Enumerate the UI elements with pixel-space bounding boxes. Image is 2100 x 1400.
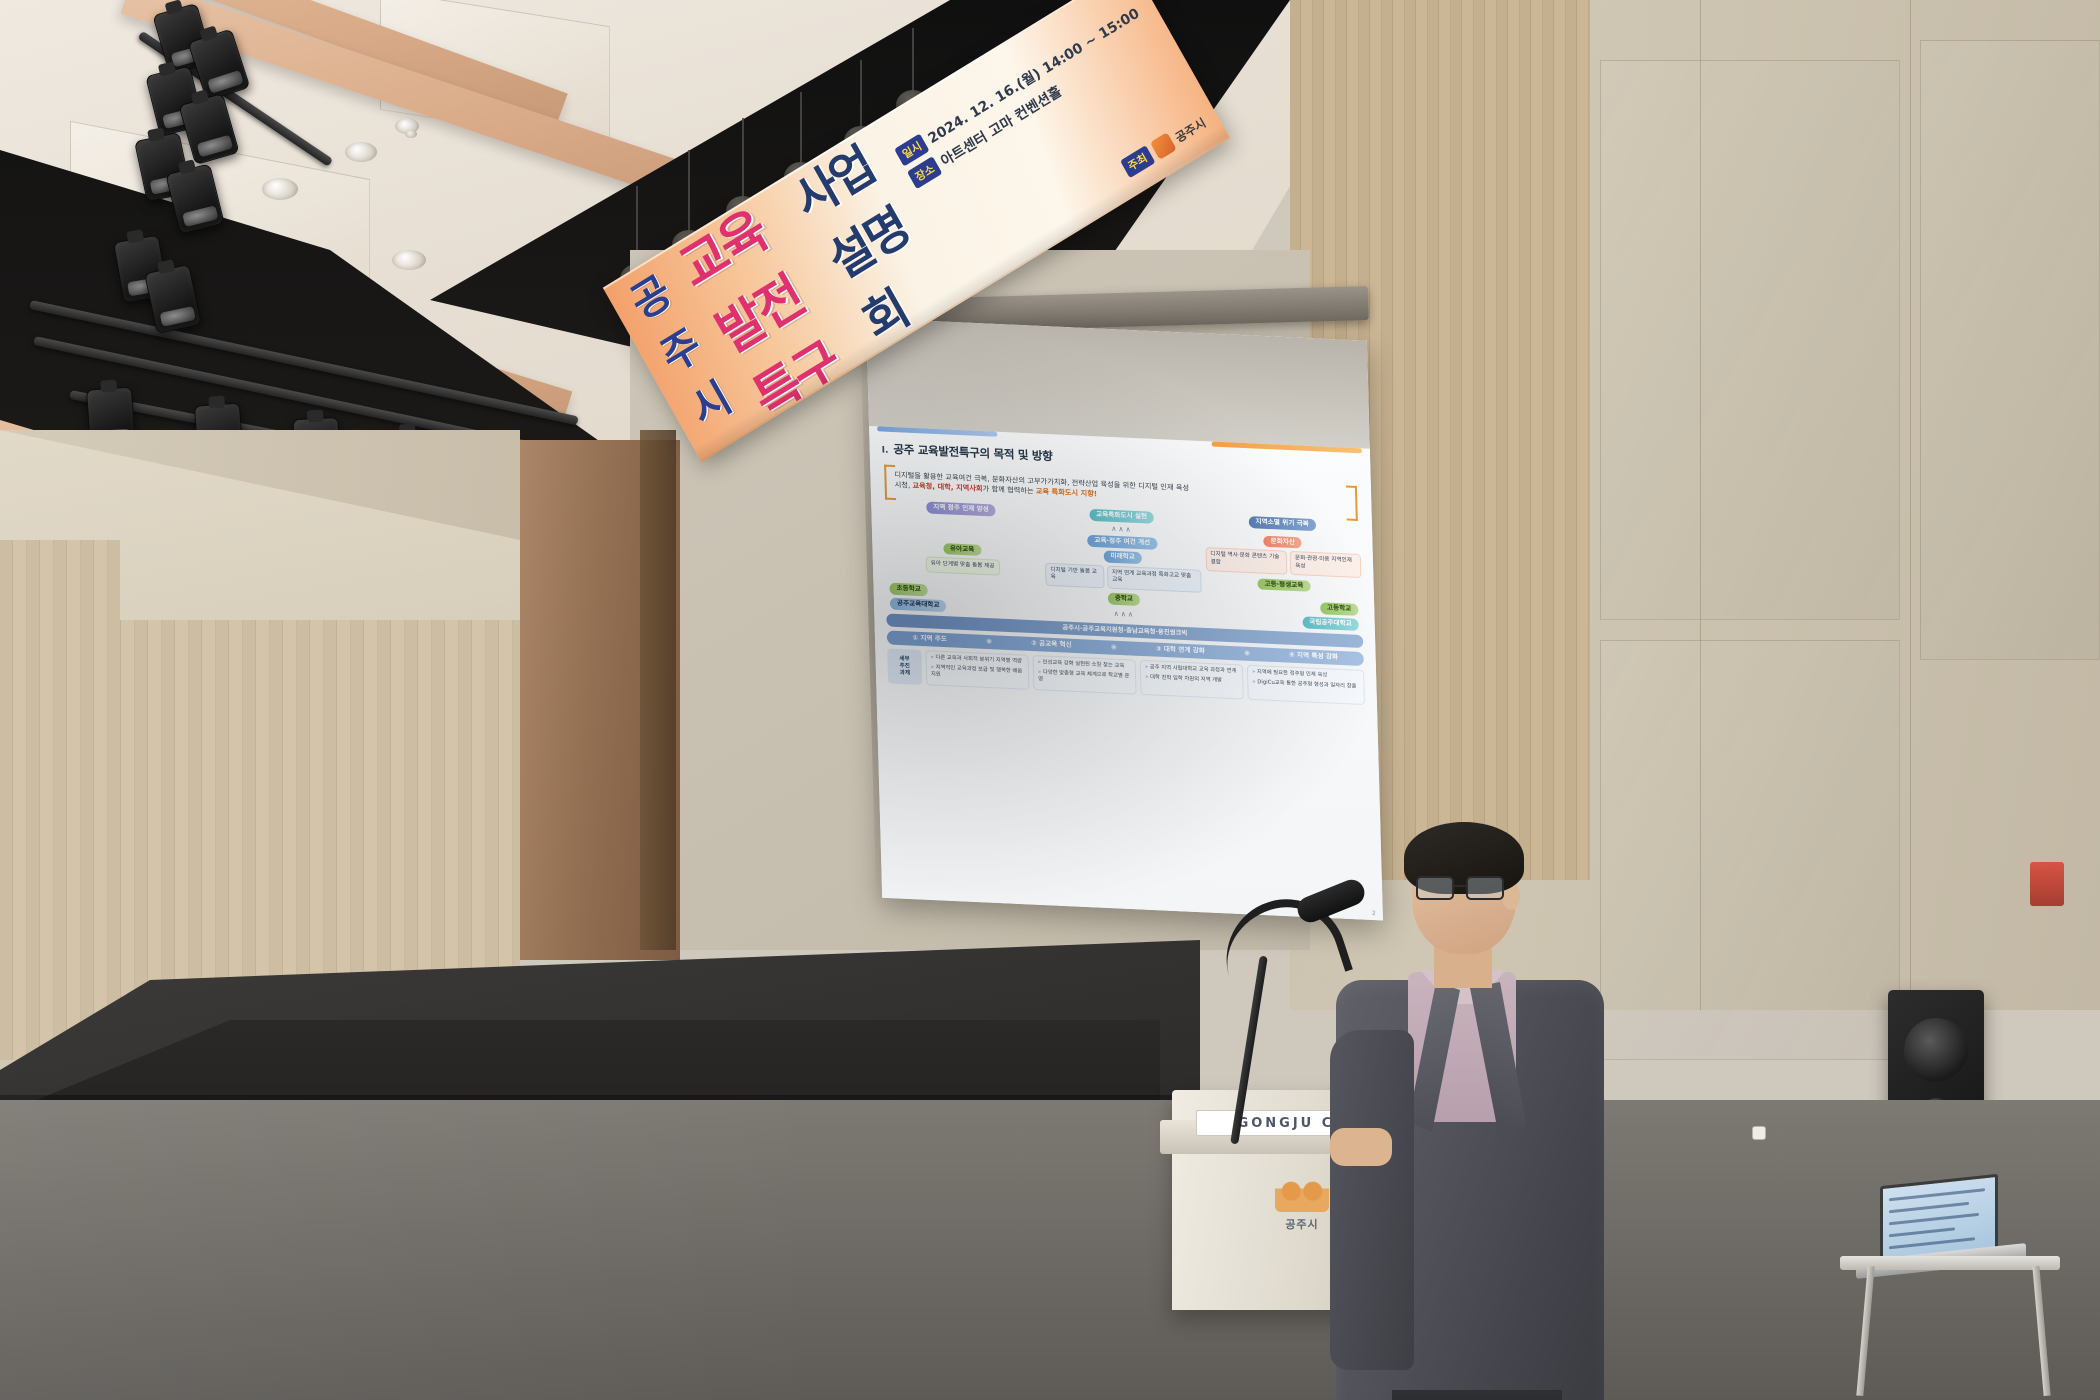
strategy-sep-icon: ◉ — [986, 638, 992, 646]
lead-plain-a: 시청, — [895, 480, 913, 490]
fixture-rod — [688, 150, 690, 238]
strategy-3: ③ 대학 연계 강화 — [1156, 646, 1205, 656]
fixture-rod — [912, 28, 914, 96]
lectern-emblem-label: 공주시 — [1285, 1216, 1318, 1232]
detail-tasks-label: 세부추진과제 — [887, 649, 922, 685]
wall-panel — [1920, 40, 2100, 660]
eyeglasses-icon — [1416, 876, 1512, 900]
detail-bullet: 지역적인 교육과정 보급 및 행복한 배움 지원 — [931, 664, 1025, 683]
pill-edu-university: 공주교육대학교 — [890, 597, 947, 611]
strategy-1: ① 지역 주도 — [912, 635, 947, 644]
projection-screen: Ⅰ. 공주 교육발전특구의 목적 및 방향 디지털을 활용한 교육여건 극복, … — [866, 318, 1383, 921]
detail-task-cell-4: 지역에 필요한 정주형 인재 육성 DigiCu교육 통한 공주형 형성과 일자… — [1247, 665, 1365, 705]
chevron-up-icon: ∧∧∧ — [1114, 609, 1136, 618]
box-future-2: 지역 연계 교육과정 특화고교 맞춤교육 — [1107, 565, 1202, 592]
strategy-sep-icon: ◉ — [1244, 650, 1250, 658]
wall-switch[interactable] — [1752, 1126, 1766, 1140]
ceiling-downlight-icon — [345, 142, 377, 162]
detail-task-cell-3: 공주 지역 사립대학교 교육 과정과 연계 대학 진학 입학 차원의 지역 개발 — [1140, 660, 1244, 699]
presentation-slide: Ⅰ. 공주 교육발전특구의 목적 및 방향 디지털을 활용한 교육여건 극복, … — [869, 426, 1383, 921]
ceiling-downlight-icon — [405, 130, 417, 138]
detail-bullet: 다양한 맞춤형 교육 체계으로 학교별 운영 — [1038, 669, 1132, 688]
box-kinder-1: 유아 단계별 맞춤 돌봄 제공 — [925, 557, 999, 576]
lamp-lens — [182, 205, 218, 227]
pill-high: 고등학교 — [1320, 602, 1359, 616]
laptop-screen-line — [1889, 1213, 1979, 1225]
wall-left-wood-panel — [0, 540, 120, 1060]
box-group-culture: 디지털 역사·문화 콘텐츠 기술 결합 문화·관광·미용 지역인재 육성 — [1205, 548, 1361, 578]
pill-depopulation: 지역소멸 위기 극복 — [1248, 516, 1316, 531]
ceiling-downlight-icon — [392, 250, 426, 270]
pill-cultural-asset: 문화자산 — [1263, 535, 1302, 549]
detail-bullet: 대학 진학 입학 차원의 지역 개발 — [1145, 674, 1238, 686]
slide-column-2: 교육특화도시 실현 ∧∧∧ 교육·정주 여건 개선 미래학교 디지털 기반 돌봄… — [1044, 506, 1202, 592]
presenter-arm — [1330, 1030, 1414, 1370]
slide-title: 공주 교육발전특구의 목적 및 방향 — [893, 443, 1052, 464]
lamp-lens — [160, 306, 196, 327]
laptop-screen-line — [1889, 1237, 1975, 1249]
presenter — [1330, 830, 1610, 1400]
lead-plain-b: 가 함께 협력하는 — [982, 484, 1035, 495]
pill-middle: 중학교 — [1108, 592, 1141, 605]
pill-future-school: 미래학교 — [1103, 550, 1142, 564]
lead-highlight-b: 교육 특화도시 지향! — [1036, 487, 1098, 499]
gongju-emblem-icon — [1275, 1160, 1329, 1212]
box-group-future: 디지털 기반 돌봄 교육 지역 연계 교육과정 특화고교 맞춤교육 — [1045, 563, 1201, 593]
strategy-4: ④ 지역 특성 강화 — [1289, 652, 1338, 662]
pill-region-talent: 지역 정주 인재 양성 — [926, 501, 996, 516]
fire-alarm-icon — [2030, 862, 2064, 906]
floor-sheen — [0, 1100, 2100, 1400]
slide-column-3: 지역소멸 위기 극복 문화자산 디지털 역사·문화 콘텐츠 기술 결합 문화·관… — [1204, 514, 1362, 600]
stage-curtain-edge — [640, 430, 676, 950]
slide-numeral: Ⅰ. — [882, 445, 889, 456]
pill-elementary: 초등학교 — [889, 582, 928, 596]
glasses-bridge — [1454, 885, 1466, 887]
lamp-lens — [207, 70, 244, 94]
auditorium-photo: Ⅰ. 공주 교육발전특구의 목적 및 방향 디지털을 활용한 교육여건 극복, … — [0, 0, 2100, 1400]
presenter-hand — [1330, 1128, 1392, 1166]
strategy-2: ② 공교육 혁신 — [1031, 640, 1072, 650]
laptop-screen-line — [1889, 1227, 1955, 1237]
speaker-cone — [1904, 1018, 1968, 1082]
glasses-lens-right — [1466, 876, 1504, 900]
box-future-1: 디지털 기반 돌봄 교육 — [1045, 563, 1104, 589]
pill-living-condition: 교육·정주 여건 개선 — [1087, 535, 1157, 550]
lamp-lens — [197, 135, 234, 158]
strategy-sep-icon: ◉ — [1111, 644, 1117, 652]
detail-task-cell-1: 다른 교육과 사회적 분위기 지역별 역량 지역적인 교육과정 보급 및 행복한… — [925, 650, 1029, 689]
slide-column-1: 지역 정주 인재 양성 유아교육 유아 단계별 맞춤 돌봄 제공 — [883, 499, 1041, 585]
laptop-screen-line — [1889, 1188, 1985, 1201]
pill-early-childhood: 유아교육 — [943, 543, 982, 557]
pill-higher-lifelong: 고등·평생교육 — [1257, 578, 1310, 592]
lead-highlight-a: 교육청, 대학, 지역사회 — [912, 481, 982, 493]
fixture-rod — [800, 92, 802, 170]
box-culture-2: 문화·관광·미용 지역인재 육성 — [1290, 551, 1362, 577]
pill-national-university: 국립공주대학교 — [1302, 616, 1359, 630]
laptop-screen-line — [1889, 1202, 1969, 1213]
pill-edu-city: 교육특화도시 실현 — [1089, 508, 1154, 523]
wall-panel — [1600, 640, 1900, 1060]
wall-groove — [1910, 0, 1911, 1010]
wall-panel — [1600, 60, 1900, 620]
fixture-rod — [742, 118, 744, 204]
chevron-up-icon: ∧∧∧ — [1111, 524, 1133, 533]
box-culture-1: 디지털 역사·문화 콘텐츠 기술 결합 — [1205, 548, 1287, 575]
presenter-trousers — [1392, 1390, 1562, 1400]
ceiling-downlight-icon — [262, 178, 298, 200]
fixture-rod — [860, 60, 862, 132]
glasses-lens-left — [1416, 876, 1454, 900]
detail-task-cell-2: 인성교육 강화 실현된 소질 찾는 교육 다양한 맞춤형 교육 체계으로 학교별… — [1032, 655, 1136, 694]
